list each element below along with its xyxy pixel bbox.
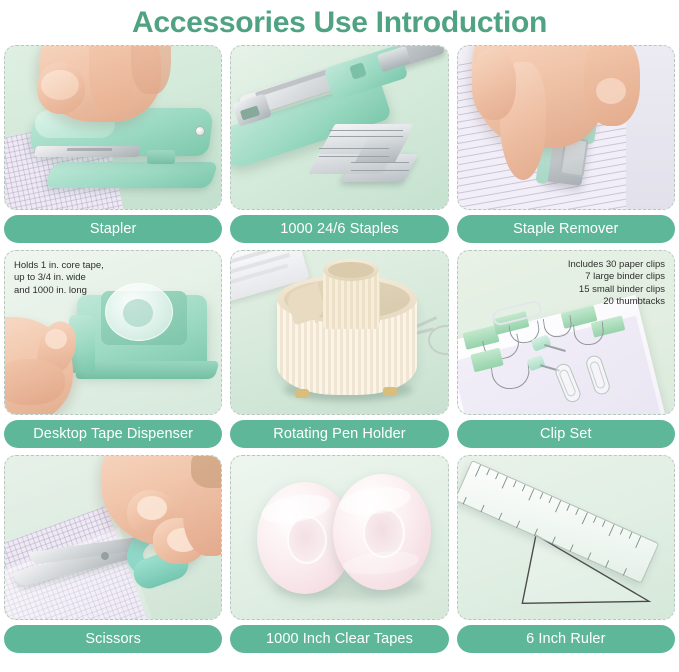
label-ruler: 6 Inch Ruler [457, 625, 675, 653]
grid-cell-ruler[interactable]: 6 Inch Ruler [457, 455, 675, 653]
grid-cell-pen-holder[interactable]: Rotating Pen Holder [230, 250, 448, 448]
product-photo-scissors [4, 455, 222, 620]
product-photo-ruler [457, 455, 675, 620]
overlay-text-clip-set: Includes 30 paper clips 7 large binder c… [568, 259, 665, 309]
label-tape-dispenser: Desktop Tape Dispenser [4, 420, 222, 448]
grid-cell-tape-dispenser[interactable]: Holds 1 in. core tape, up to 3/4 in. wid… [4, 250, 222, 448]
product-photo-staple-remover [457, 45, 675, 210]
label-scissors: Scissors [4, 625, 222, 653]
photo-scene [231, 46, 447, 209]
label-stapler: Stapler [4, 215, 222, 243]
overlay-text-tape-dispenser: Holds 1 in. core tape, up to 3/4 in. wid… [14, 260, 104, 297]
product-photo-clip-set: Includes 30 paper clips 7 large binder c… [457, 250, 675, 415]
accessories-grid: Stapler [0, 45, 679, 653]
photo-scene [5, 456, 221, 619]
photo-scene [231, 251, 447, 414]
page-root: Accessories Use Introduction [0, 0, 679, 672]
photo-scene [458, 46, 674, 209]
label-clip-set: Clip Set [457, 420, 675, 448]
photo-scene [231, 456, 447, 619]
grid-cell-staple-remover[interactable]: Staple Remover [457, 45, 675, 243]
label-pen-holder: Rotating Pen Holder [230, 420, 448, 448]
product-photo-staples [230, 45, 448, 210]
product-photo-pen-holder [230, 250, 448, 415]
grid-cell-staples[interactable]: 1000 24/6 Staples [230, 45, 448, 243]
grid-cell-clear-tapes[interactable]: 1000 Inch Clear Tapes [230, 455, 448, 653]
grid-cell-clip-set[interactable]: Includes 30 paper clips 7 large binder c… [457, 250, 675, 448]
photo-scene [458, 456, 674, 619]
grid-cell-scissors[interactable]: Scissors [4, 455, 222, 653]
product-photo-clear-tapes [230, 455, 448, 620]
label-clear-tapes: 1000 Inch Clear Tapes [230, 625, 448, 653]
grid-cell-stapler[interactable]: Stapler [4, 45, 222, 243]
page-title: Accessories Use Introduction [0, 0, 679, 44]
product-photo-stapler [4, 45, 222, 210]
label-staple-remover: Staple Remover [457, 215, 675, 243]
label-staples: 1000 24/6 Staples [230, 215, 448, 243]
photo-scene [5, 46, 221, 209]
product-photo-tape-dispenser: Holds 1 in. core tape, up to 3/4 in. wid… [4, 250, 222, 415]
